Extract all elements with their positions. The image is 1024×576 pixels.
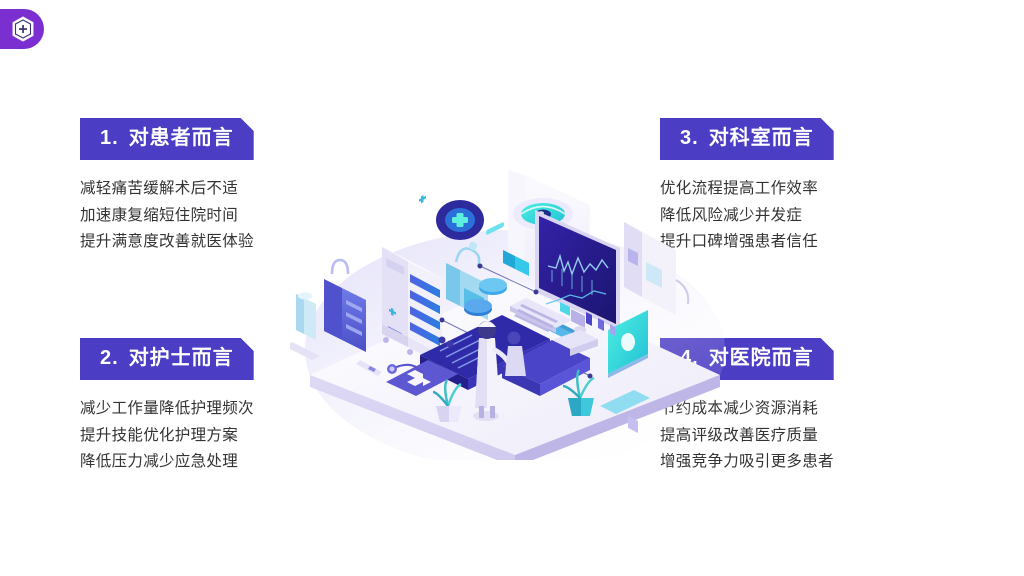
section-3-banner[interactable]: 3.对科室而言 xyxy=(660,118,834,160)
section-3-title: 对科室而言 xyxy=(709,127,814,149)
section-1-number: 1. xyxy=(100,127,119,149)
app-logo-badge xyxy=(0,9,44,49)
section-2-number: 2. xyxy=(100,347,119,369)
section-1-banner[interactable]: 1.对患者而言 xyxy=(80,118,254,160)
section-3-number: 3. xyxy=(680,127,699,149)
isometric-hospital-room-illustration xyxy=(290,170,740,460)
hexagon-medical-cross-icon xyxy=(11,16,35,42)
medical-cross-badge xyxy=(436,200,484,240)
section-2-banner[interactable]: 2.对护士而言 xyxy=(80,338,254,380)
section-1-title: 对患者而言 xyxy=(129,127,234,149)
section-2-title: 对护士而言 xyxy=(129,347,234,369)
